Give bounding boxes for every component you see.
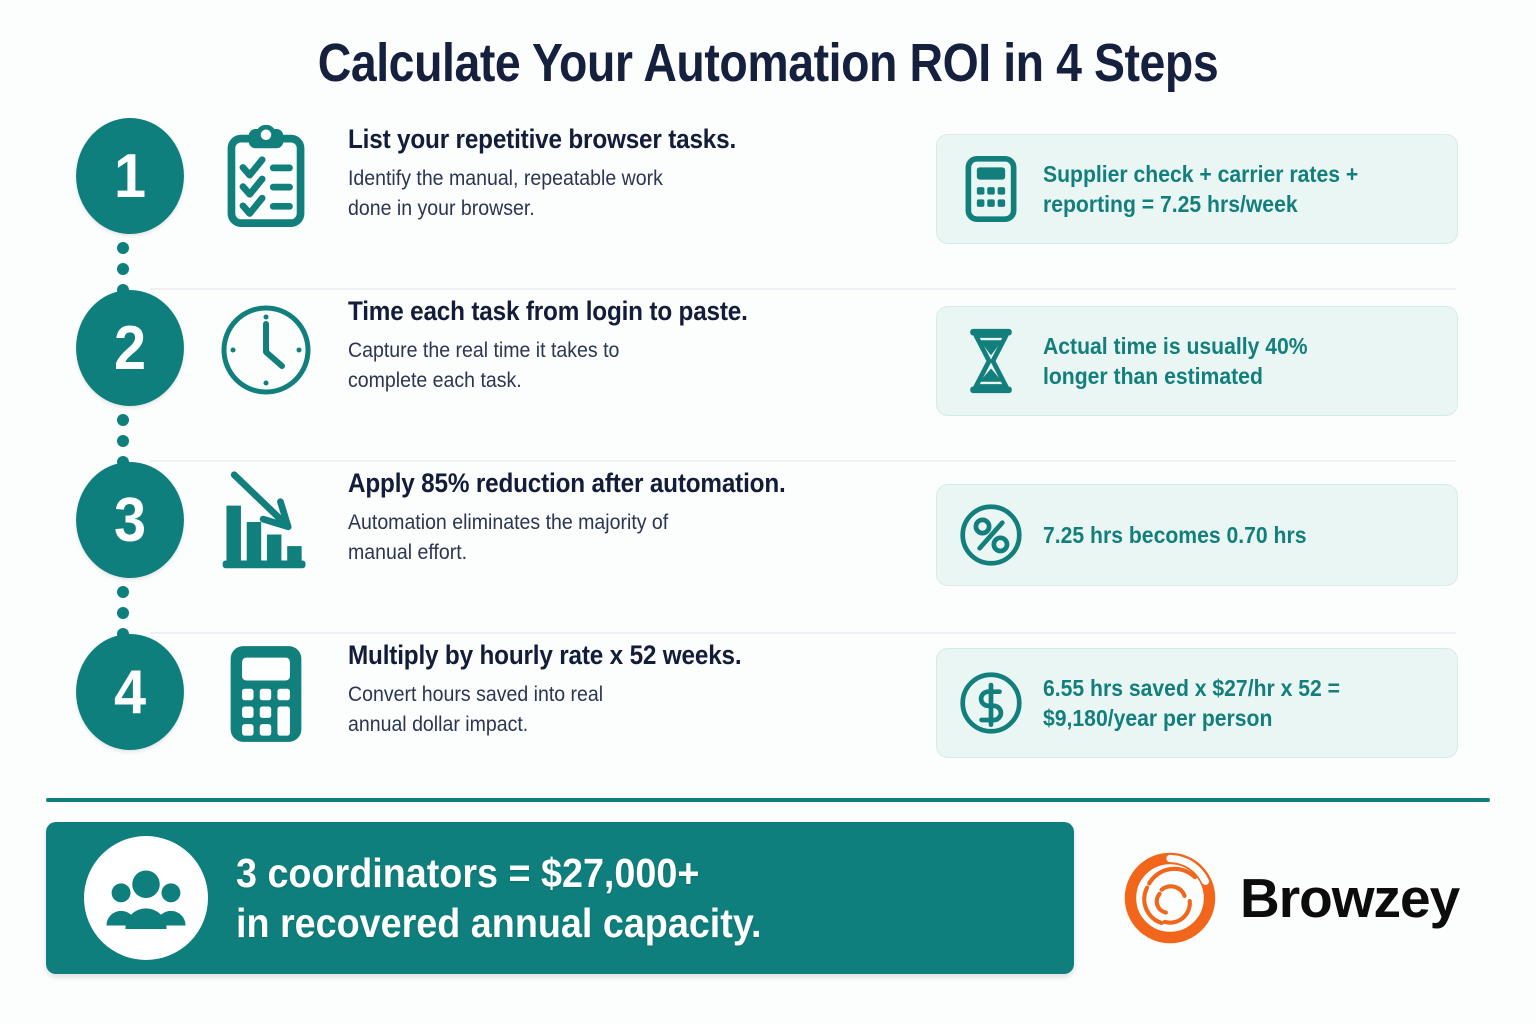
step-body-line-1: Convert hours saved into real [348,680,869,710]
step-text: Multiply by hourly rate x 52 weeks. Conv… [348,634,868,741]
brand-name: Browzey [1240,866,1459,930]
step-heading: Time each task from login to paste. [348,296,816,327]
bottom-divider-rule [46,798,1490,802]
clock-icon [206,290,326,410]
step-heading: Multiply by hourly rate x 52 weeks. [348,640,816,671]
step-body: Automation eliminates the majority of ma… [348,508,869,569]
step-row: 4 Multiply by hourly rate x 52 weeks [0,634,1536,806]
people-group-icon [84,836,208,960]
calculator-solid-icon [206,634,326,754]
callout-line-1: 7.25 hrs becomes 0.70 hrs [1043,520,1405,550]
summary-banner: 3 coordinators = $27,000+ in recovered a… [46,822,1074,974]
step-text: Apply 85% reduction after automation. Au… [348,462,868,569]
infographic-page: Calculate Your Automation ROI in 4 Steps… [0,0,1536,1024]
callout-text: Supplier check + carrier rates + reporti… [1043,159,1405,220]
callout-text: 7.25 hrs becomes 0.70 hrs [1043,520,1405,550]
declining-bar-chart-icon [206,462,326,582]
clipboard-checklist-icon [206,118,326,238]
step-heading: List your repetitive browser tasks. [348,124,816,155]
callout-card: Supplier check + carrier rates + reporti… [936,134,1458,244]
step-number-badge: 1 [76,118,184,234]
callout-line-2: reporting = 7.25 hrs/week [1043,189,1405,219]
hourglass-icon [957,327,1025,395]
callout-line-2: longer than estimated [1043,361,1405,391]
browzey-spiral-icon [1118,846,1222,950]
page-title: Calculate Your Automation ROI in 4 Steps [108,0,1429,94]
step-heading: Apply 85% reduction after automation. [348,468,816,499]
calculator-icon [957,155,1025,223]
step-body-line-1: Automation eliminates the majority of [348,508,869,538]
banner-text: 3 coordinators = $27,000+ in recovered a… [236,848,762,948]
callout-text: Actual time is usually 40% longer than e… [1043,331,1405,392]
callout-card: 7.25 hrs becomes 0.70 hrs [936,484,1458,586]
step-row: 2 Time each task from login to paste. [0,290,1536,462]
banner-line-2: in recovered annual capacity. [236,898,762,948]
step-number-badge: 4 [76,634,184,750]
step-body: Identify the manual, repeatable work don… [348,164,869,225]
callout-text: 6.55 hrs saved x $27/hr x 52 = $9,180/ye… [1043,673,1405,734]
step-body-line-1: Identify the manual, repeatable work [348,164,869,194]
step-body: Convert hours saved into real annual dol… [348,680,869,741]
step-number-badge: 2 [76,290,184,406]
step-body-line-2: complete each task. [348,366,869,396]
step-body-line-2: annual dollar impact. [348,710,869,740]
percent-circle-icon [957,501,1025,569]
banner-line-1: 3 coordinators = $27,000+ [236,848,762,898]
callout-card: Actual time is usually 40% longer than e… [936,306,1458,416]
step-row: 3 Apply 85% reduction after automation. [0,462,1536,634]
step-number: 1 [114,141,146,212]
step-text: Time each task from login to paste. Capt… [348,290,868,397]
step-number: 3 [114,485,146,556]
brand-logo: Browzey [1118,846,1459,950]
step-number: 4 [114,657,146,728]
step-body-line-1: Capture the real time it takes to [348,336,869,366]
step-body-line-2: manual effort. [348,538,869,568]
callout-card: 6.55 hrs saved x $27/hr x 52 = $9,180/ye… [936,648,1458,758]
callout-line-2: $9,180/year per person [1043,703,1405,733]
callout-line-1: Actual time is usually 40% [1043,331,1405,361]
step-body-line-2: done in your browser. [348,194,869,224]
steps-list: 1 List your repetitive b [0,118,1536,806]
step-number: 2 [114,313,146,384]
dollar-circle-icon [957,669,1025,737]
step-row: 1 List your repetitive b [0,118,1536,290]
callout-line-1: Supplier check + carrier rates + [1043,159,1405,189]
step-text: List your repetitive browser tasks. Iden… [348,118,868,225]
callout-line-1: 6.55 hrs saved x $27/hr x 52 = [1043,673,1405,703]
step-body: Capture the real time it takes to comple… [348,336,869,397]
step-number-badge: 3 [76,462,184,578]
